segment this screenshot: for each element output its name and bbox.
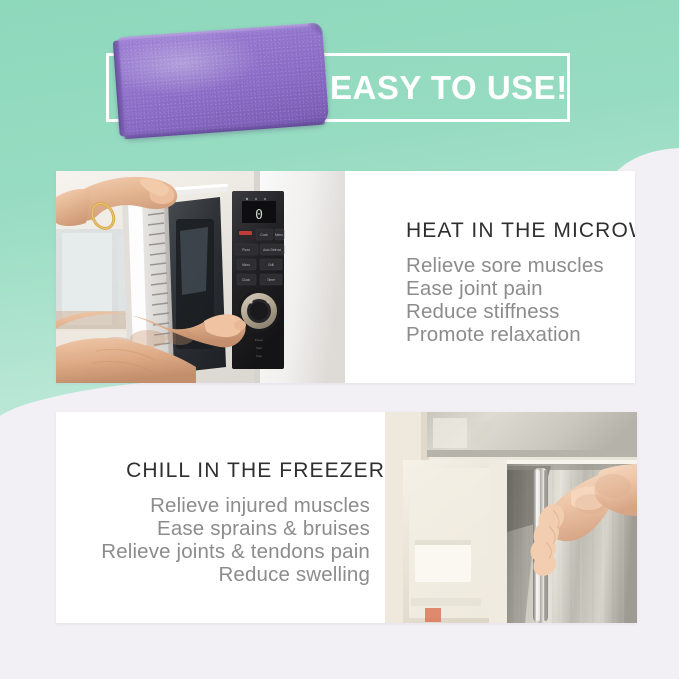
svg-text:Timer: Timer	[267, 278, 276, 282]
svg-text:Clock: Clock	[242, 278, 250, 282]
panel-freezer-text: CHILL IN THE FREEZER Relieve injured mus…	[56, 412, 385, 623]
svg-text:Micro: Micro	[242, 263, 250, 267]
svg-text:Menu: Menu	[275, 233, 283, 237]
benefit-item: Reduce swelling	[56, 563, 370, 586]
svg-text:Stop: Stop	[256, 354, 263, 358]
svg-text:0: 0	[255, 208, 263, 223]
svg-text:Cook: Cook	[260, 233, 268, 237]
header-title: EASY TO USE!	[330, 64, 570, 112]
infographic-canvas: EASY TO USE!	[0, 0, 679, 679]
benefit-item: Relieve sore muscles	[406, 254, 635, 277]
benefit-item: Relieve injured muscles	[56, 494, 370, 517]
benefit-item: Ease joint pain	[406, 277, 635, 300]
panel-microwave-text: HEAT IN THE MICROWAVE Relieve sore muscl…	[345, 171, 635, 383]
panel-microwave-benefits: Relieve sore muscles Ease joint pain Red…	[406, 254, 635, 346]
svg-text:Start: Start	[256, 346, 263, 350]
photo-freezer	[385, 412, 637, 623]
benefit-item: Ease sprains & bruises	[56, 517, 370, 540]
panel-freezer-benefits: Relieve injured muscles Ease sprains & b…	[56, 494, 385, 586]
benefit-item: Promote relaxation	[406, 323, 635, 346]
panel-freezer: CHILL IN THE FREEZER Relieve injured mus…	[56, 412, 637, 623]
svg-text:Grill: Grill	[268, 263, 274, 267]
panel-microwave: 0 Cook	[56, 171, 635, 383]
purple-fleece-heating-pad	[113, 22, 330, 139]
svg-text:Auto Defrost: Auto Defrost	[263, 248, 281, 252]
panel-microwave-heading: HEAT IN THE MICROWAVE	[406, 219, 635, 243]
svg-text:Power: Power	[255, 338, 264, 342]
photo-microwave: 0 Cook	[56, 171, 345, 383]
benefit-item: Relieve joints & tendons pain	[56, 540, 370, 563]
benefit-item: Reduce stiffness	[406, 300, 635, 323]
panel-freezer-heading: CHILL IN THE FREEZER	[56, 459, 385, 483]
svg-text:Pizza: Pizza	[242, 248, 250, 252]
